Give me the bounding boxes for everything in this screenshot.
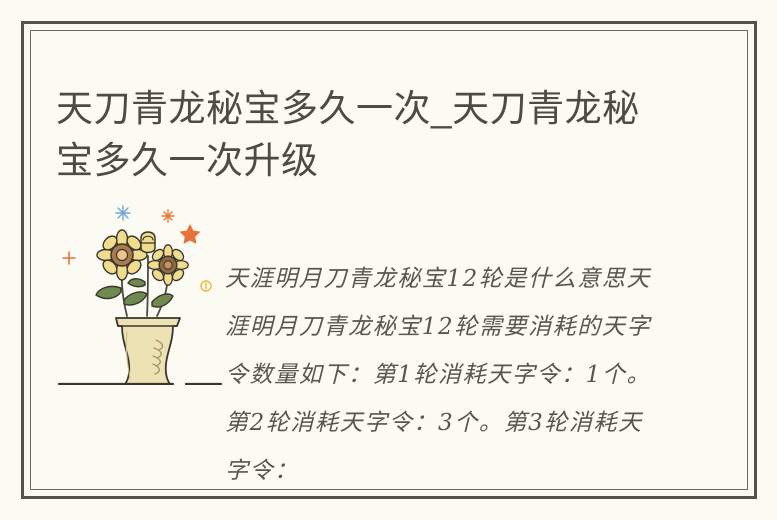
article-content: 天刀青龙秘宝多久一次_天刀青龙秘宝多久一次升级 bbox=[30, 30, 748, 490]
sunflower-left bbox=[97, 230, 147, 280]
sparkle-orange-top-icon bbox=[162, 210, 174, 222]
sparkle-dot-right-icon bbox=[201, 281, 211, 291]
leaves bbox=[96, 279, 173, 307]
page-title: 天刀青龙秘宝多久一次_天刀青龙秘宝多久一次升级 bbox=[56, 83, 676, 187]
article-body-text: 天涯明月刀青龙秘宝12轮是什么意思天涯明月刀青龙秘宝12轮需要消耗的天字令数量如… bbox=[225, 255, 655, 495]
sparkle-plus-left-icon bbox=[63, 252, 75, 264]
vase-with-sunflowers-illustration bbox=[55, 200, 225, 385]
article-page: 天刀青龙秘宝多久一次_天刀青龙秘宝多久一次升级 bbox=[0, 0, 777, 520]
article-body-area: 天涯明月刀青龙秘宝12轮是什么意思天涯明月刀青龙秘宝12轮需要消耗的天字令数量如… bbox=[30, 190, 748, 490]
sparkle-blue-icon bbox=[116, 206, 130, 220]
flower-bud-center bbox=[141, 232, 155, 253]
vase bbox=[116, 318, 180, 384]
sparkle-orange-star-icon bbox=[181, 225, 200, 243]
